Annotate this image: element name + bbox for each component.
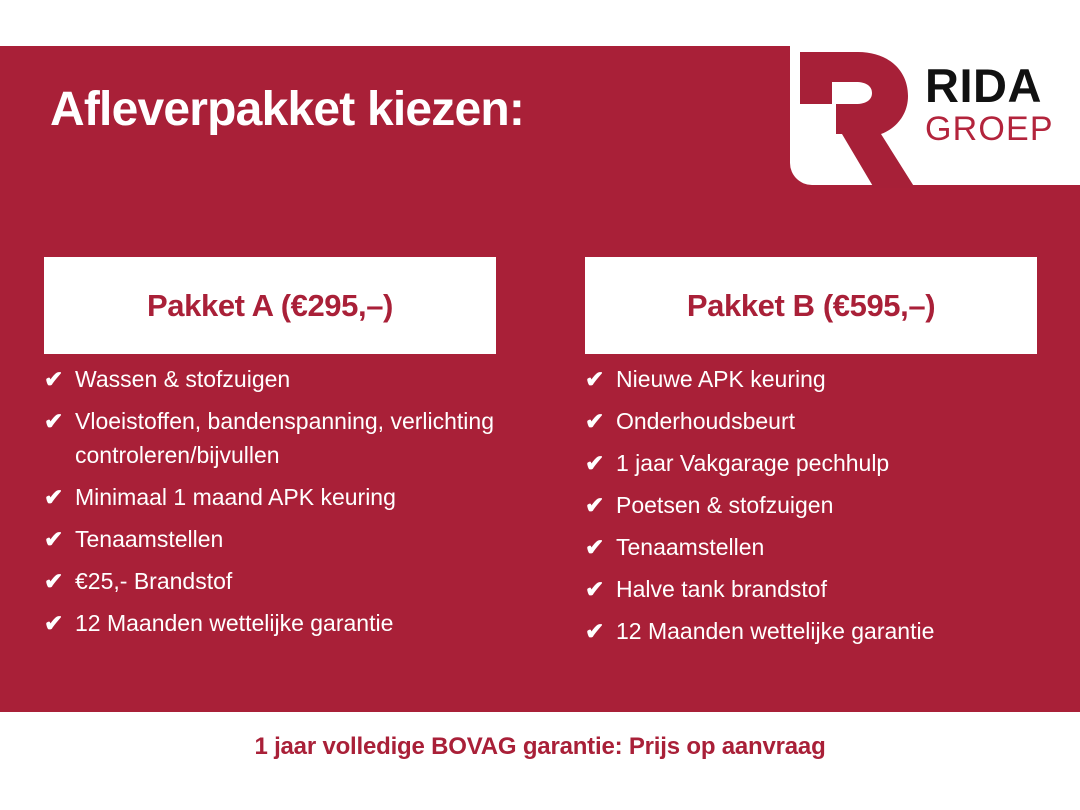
package-b-title: Pakket B (€595,–) (687, 288, 935, 324)
package-a-feature-list: ✔ Wassen & stofzuigen ✔ Vloeistoffen, ba… (44, 362, 514, 648)
feature-label: €25,- Brandstof (75, 564, 514, 598)
list-item: ✔ Onderhoudsbeurt (585, 404, 1055, 438)
check-icon: ✔ (44, 480, 75, 514)
check-icon: ✔ (44, 606, 75, 640)
package-b-feature-list: ✔ Nieuwe APK keuring ✔ Onderhoudsbeurt ✔… (585, 362, 1055, 656)
feature-label: 12 Maanden wettelijke garantie (616, 614, 1055, 648)
list-item: ✔ 12 Maanden wettelijke garantie (585, 614, 1055, 648)
footer-band: 1 jaar volledige BOVAG garantie: Prijs o… (0, 712, 1080, 810)
feature-label: 1 jaar Vakgarage pechhulp (616, 446, 1055, 480)
feature-label: Minimaal 1 maand APK keuring (75, 480, 514, 514)
delivery-package-poster: Afleverpakket kiezen: RIDA GROEP Pakket … (0, 0, 1080, 810)
check-icon: ✔ (585, 572, 616, 606)
check-icon: ✔ (44, 522, 75, 556)
list-item: ✔ Wassen & stofzuigen (44, 362, 514, 396)
list-item: ✔ 1 jaar Vakgarage pechhulp (585, 446, 1055, 480)
list-item: ✔ Vloeistoffen, bandenspanning, verlicht… (44, 404, 514, 472)
feature-label: Tenaamstellen (616, 530, 1055, 564)
package-b-header-card[interactable]: Pakket B (€595,–) (585, 257, 1037, 354)
feature-label: 12 Maanden wettelijke garantie (75, 606, 514, 640)
check-icon: ✔ (585, 362, 616, 396)
check-icon: ✔ (44, 362, 75, 396)
list-item: ✔ Tenaamstellen (44, 522, 514, 556)
package-a-title: Pakket A (€295,–) (147, 288, 393, 324)
check-icon: ✔ (44, 404, 75, 438)
check-icon: ✔ (585, 530, 616, 564)
list-item: ✔ Nieuwe APK keuring (585, 362, 1055, 396)
list-item: ✔ Tenaamstellen (585, 530, 1055, 564)
check-icon: ✔ (585, 488, 616, 522)
list-item: ✔ Poetsen & stofzuigen (585, 488, 1055, 522)
page-title: Afleverpakket kiezen: (50, 82, 524, 137)
feature-label: Poetsen & stofzuigen (616, 488, 1055, 522)
feature-label: Onderhoudsbeurt (616, 404, 1055, 438)
list-item: ✔ Halve tank brandstof (585, 572, 1055, 606)
feature-label: Halve tank brandstof (616, 572, 1055, 606)
feature-label: Nieuwe APK keuring (616, 362, 1055, 396)
feature-label: Vloeistoffen, bandenspanning, verlichtin… (75, 404, 514, 472)
list-item: ✔ €25,- Brandstof (44, 564, 514, 598)
check-icon: ✔ (44, 564, 75, 598)
logo-suffix: GROEP (925, 110, 1075, 148)
check-icon: ✔ (585, 404, 616, 438)
feature-label: Wassen & stofzuigen (75, 362, 514, 396)
rida-r-monogram-icon (796, 48, 916, 180)
check-icon: ✔ (585, 614, 616, 648)
footer-note: 1 jaar volledige BOVAG garantie: Prijs o… (254, 733, 825, 761)
feature-label: Tenaamstellen (75, 522, 514, 556)
check-icon: ✔ (585, 446, 616, 480)
list-item: ✔ Minimaal 1 maand APK keuring (44, 480, 514, 514)
logo-wordmark: RIDA GROEP (925, 62, 1075, 172)
logo-name: RIDA (925, 62, 1075, 110)
list-item: ✔ 12 Maanden wettelijke garantie (44, 606, 514, 640)
package-a-header-card[interactable]: Pakket A (€295,–) (44, 257, 496, 354)
